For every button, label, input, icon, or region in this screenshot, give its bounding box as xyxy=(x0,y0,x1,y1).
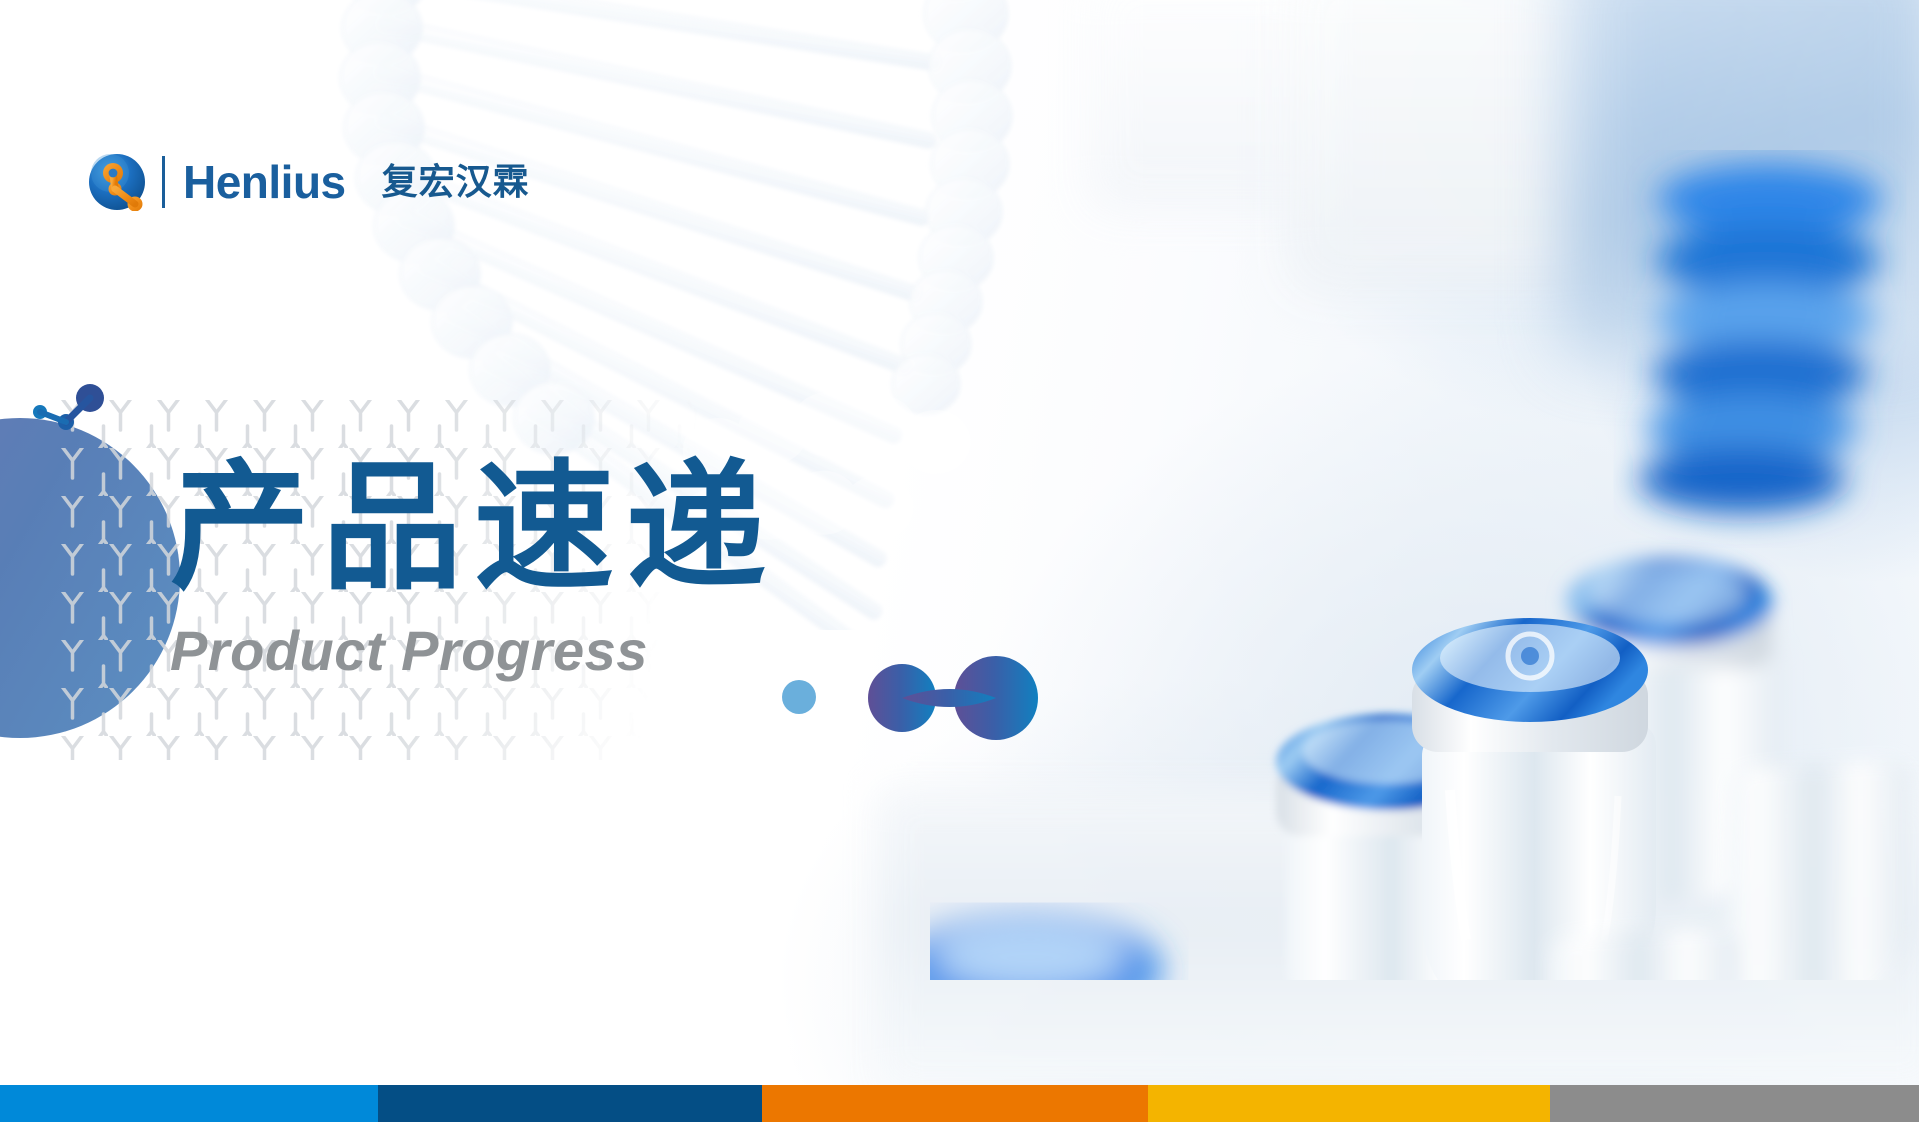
vial-row-photo xyxy=(930,150,1919,980)
color-bar-segment-gray xyxy=(1550,1085,1919,1122)
logo-wordmark: Henlius xyxy=(183,159,346,205)
color-bar-segment-light-blue xyxy=(0,1085,378,1122)
presentation-slide: Henlius 复宏汉霖 产品速递 Product Progress xyxy=(0,0,1919,1122)
color-bar-segment-orange xyxy=(762,1085,1148,1122)
color-bar-segment-yellow xyxy=(1148,1085,1550,1122)
title-block: 产品速递 Product Progress xyxy=(170,455,1070,679)
molecule-icon-accent xyxy=(860,650,1040,746)
color-bar-segment-dark-blue xyxy=(378,1085,762,1122)
brand-logo[interactable]: Henlius 复宏汉霖 xyxy=(88,152,530,212)
logo-chinese-name: 复宏汉霖 xyxy=(382,164,530,200)
henlius-molecule-logo-icon xyxy=(88,153,146,211)
molecule-icon-small xyxy=(30,382,106,438)
logo-divider xyxy=(162,156,165,208)
bottom-color-bar xyxy=(0,1085,1919,1122)
page-title: 产品速递 xyxy=(170,455,1070,601)
accent-dot xyxy=(782,680,816,714)
